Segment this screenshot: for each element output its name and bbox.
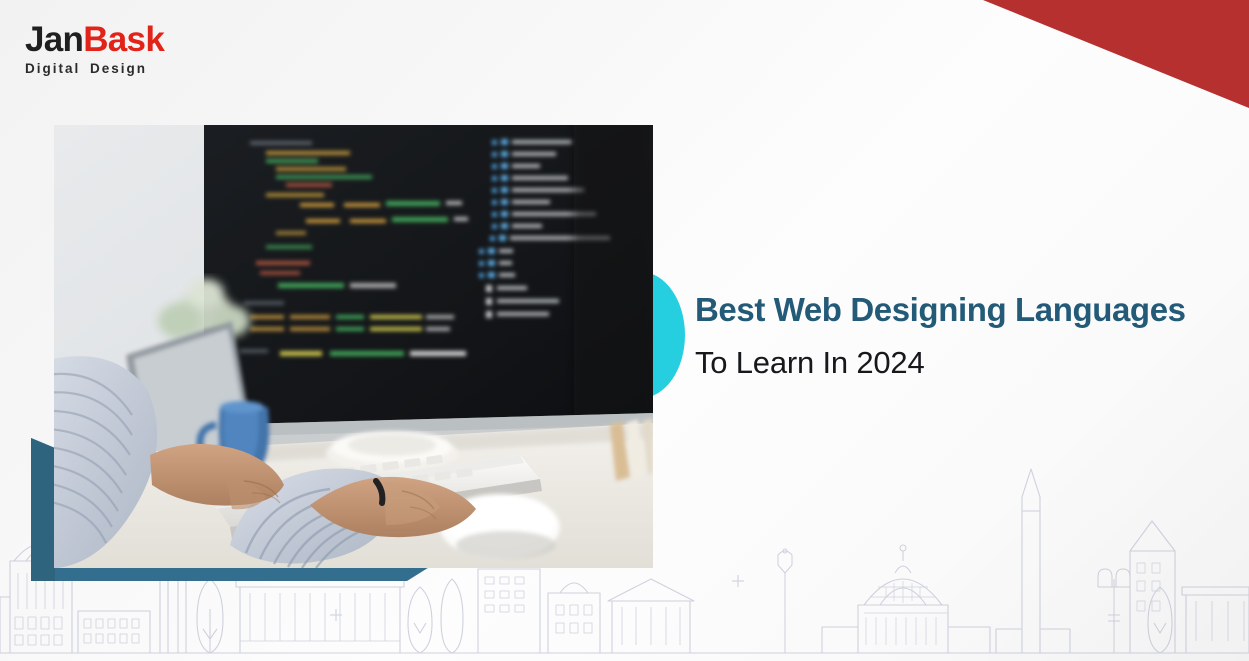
logo-tagline-design: Design	[90, 61, 147, 76]
headline-secondary: To Learn In 2024	[695, 344, 1215, 381]
logo-wordmark: JanBask	[25, 22, 164, 57]
hero-image	[54, 125, 653, 568]
logo-tagline: Digital Design	[25, 62, 164, 76]
headline-block: Best Web Designing Languages To Learn In…	[695, 290, 1215, 381]
brand-logo[interactable]: JanBask Digital Design	[25, 22, 164, 76]
red-corner-wedge	[983, 0, 1249, 108]
logo-text-jan: Jan	[25, 20, 83, 59]
headline-primary: Best Web Designing Languages	[695, 290, 1215, 330]
logo-tagline-digital: Digital	[25, 61, 80, 76]
blog-banner: JanBask Digital Design Best Web Designin…	[0, 0, 1249, 661]
logo-text-bask: Bask	[83, 20, 164, 59]
